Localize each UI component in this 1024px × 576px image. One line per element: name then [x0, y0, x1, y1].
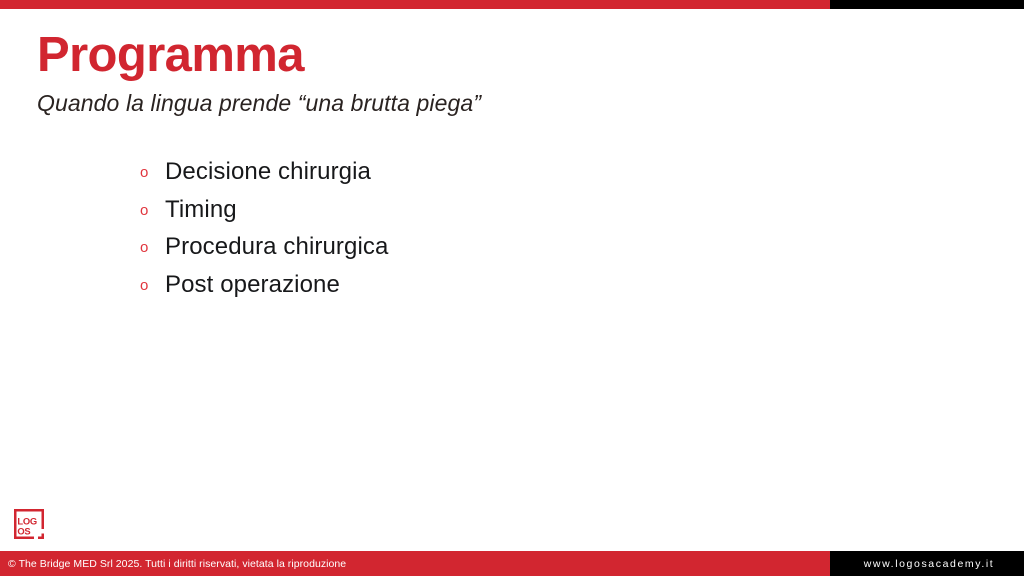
footer-black-segment: www.logosacademy.it	[830, 551, 1024, 576]
list-item: o Procedura chirurgica	[140, 233, 388, 271]
circle-bullet-icon: o	[140, 240, 165, 255]
page-title: Programma	[37, 30, 977, 81]
circle-bullet-icon: o	[140, 165, 165, 180]
logos-logo-icon: LOG OS	[12, 507, 46, 541]
top-accent-bar-black-segment	[830, 0, 1024, 9]
circle-bullet-icon: o	[140, 203, 165, 218]
agenda-item-label: Decisione chirurgia	[165, 158, 371, 187]
page-subtitle: Quando la lingua prende “una brutta pieg…	[37, 89, 977, 118]
logo-line-bottom: OS	[17, 525, 30, 536]
list-item: o Decisione chirurgia	[140, 158, 388, 196]
circle-bullet-icon: o	[140, 278, 165, 293]
agenda-list: o Decisione chirurgia o Timing o Procedu…	[140, 158, 388, 308]
agenda-item-label: Timing	[165, 196, 237, 225]
footer-copyright-text: © The Bridge MED Srl 2025. Tutti i dirit…	[8, 558, 346, 570]
list-item: o Timing	[140, 196, 388, 234]
top-accent-bar-red-segment	[0, 0, 830, 9]
footer-website-link[interactable]: www.logosacademy.it	[860, 558, 995, 570]
slide-heading: Programma Quando la lingua prende “una b…	[37, 30, 977, 118]
slide-footer: © The Bridge MED Srl 2025. Tutti i dirit…	[0, 551, 1024, 576]
agenda-item-label: Procedura chirurgica	[165, 233, 388, 262]
agenda-item-label: Post operazione	[165, 271, 340, 300]
footer-red-segment: © The Bridge MED Srl 2025. Tutti i dirit…	[0, 551, 830, 576]
top-accent-bar	[0, 0, 1024, 9]
presentation-slide: Programma Quando la lingua prende “una b…	[0, 0, 1024, 576]
list-item: o Post operazione	[140, 271, 388, 309]
